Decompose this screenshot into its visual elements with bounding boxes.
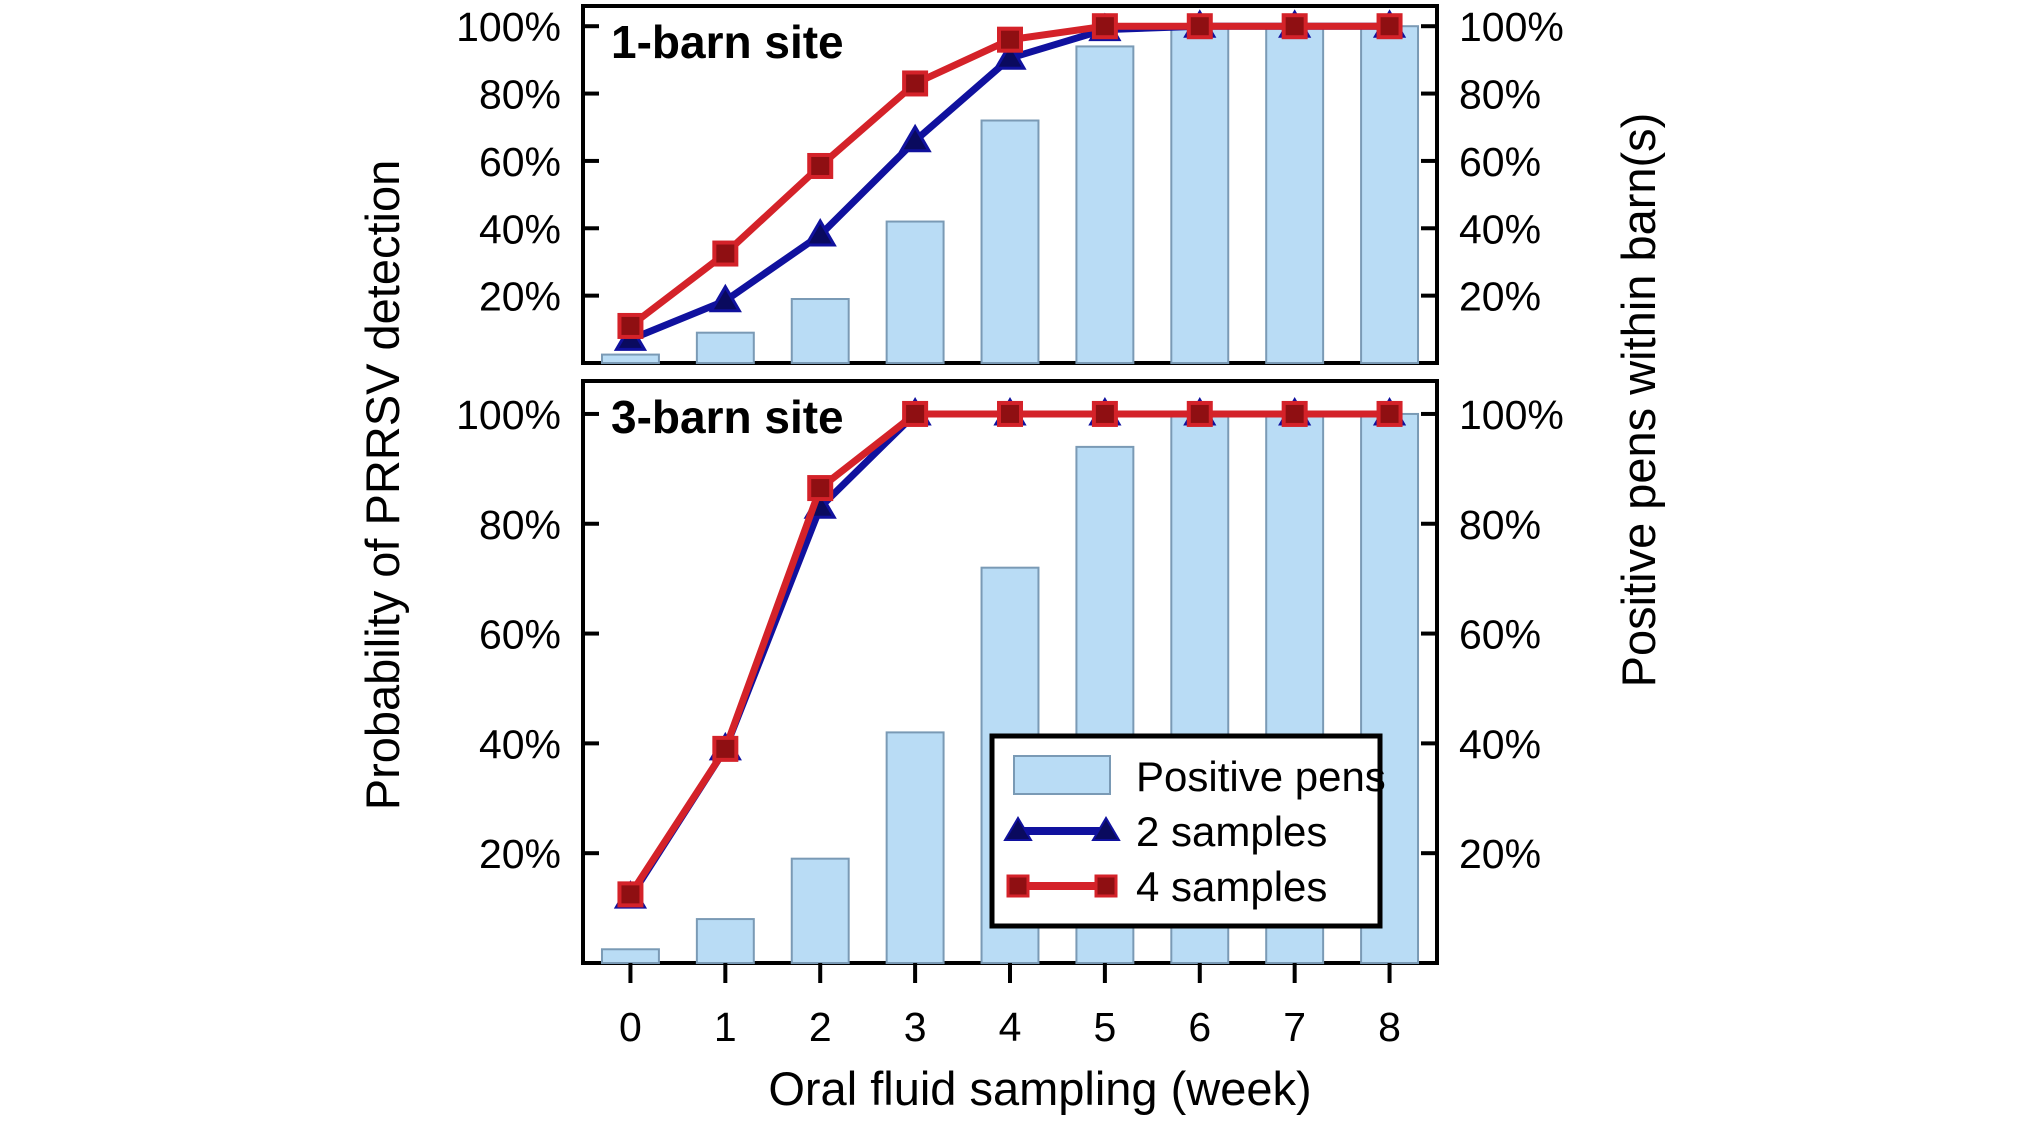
panel-title-1: 1-barn site [611, 16, 844, 68]
ytick-label-left-40: 40% [479, 206, 561, 252]
marker-square-week-4 [999, 403, 1021, 425]
ytick-label-right-60: 60% [1459, 612, 1541, 658]
ytick-label-left-20: 20% [479, 831, 561, 877]
marker-square-week-7 [1284, 403, 1306, 425]
ytick-label-left-20: 20% [479, 274, 561, 320]
bar-week-2 [792, 299, 849, 363]
marker-square-week-1 [714, 243, 736, 265]
marker-square-week-0 [619, 315, 641, 337]
legend-label-4-samples: 4 samples [1136, 863, 1327, 910]
marker-square-week-2 [809, 155, 831, 177]
bar-week-4 [982, 121, 1039, 363]
legend-label-2-samples: 2 samples [1136, 808, 1327, 855]
panel-title-2: 3-barn site [611, 391, 844, 443]
marker-square-week-7 [1284, 15, 1306, 37]
y-axis-title-right: Positive pens within barn(s) [1612, 113, 1665, 688]
ytick-label-left-60: 60% [479, 139, 561, 185]
bar-week-6 [1171, 26, 1228, 363]
marker-square-week-2 [809, 477, 831, 499]
bar-week-8 [1361, 26, 1418, 363]
marker-square-week-8 [1379, 403, 1401, 425]
bar-week-3 [887, 222, 944, 363]
bar-week-5 [1076, 46, 1133, 363]
ytick-label-right-20: 20% [1459, 831, 1541, 877]
xtick-label-6: 6 [1188, 1004, 1211, 1050]
xtick-label-1: 1 [714, 1004, 737, 1050]
bar-week-1 [697, 333, 754, 363]
marker-square-week-1 [714, 738, 736, 760]
legend-marker-square-1 [1096, 876, 1116, 896]
marker-square-week-8 [1379, 15, 1401, 37]
xtick-label-4: 4 [999, 1004, 1022, 1050]
ytick-label-left-100: 100% [456, 392, 561, 438]
legend: Positive pens2 samples4 samples [992, 736, 1386, 926]
xtick-label-2: 2 [809, 1004, 832, 1050]
ytick-label-left-40: 40% [479, 721, 561, 767]
ytick-label-right-80: 80% [1459, 502, 1541, 548]
ytick-label-right-40: 40% [1459, 206, 1541, 252]
xtick-label-3: 3 [904, 1004, 927, 1050]
bar-week-3 [887, 732, 944, 963]
marker-square-week-4 [999, 29, 1021, 51]
xtick-label-8: 8 [1378, 1004, 1401, 1050]
legend-label-positive-pens: Positive pens [1136, 753, 1386, 800]
marker-square-week-3 [904, 403, 926, 425]
marker-square-week-6 [1189, 403, 1211, 425]
bar-week-0 [602, 949, 659, 963]
xtick-label-5: 5 [1093, 1004, 1116, 1050]
ytick-label-right-60: 60% [1459, 139, 1541, 185]
xtick-label-0: 0 [619, 1004, 642, 1050]
ytick-label-left-80: 80% [479, 72, 561, 118]
ytick-label-right-20: 20% [1459, 274, 1541, 320]
x-axis-title: Oral fluid sampling (week) [768, 1062, 1311, 1115]
marker-square-week-0 [619, 883, 641, 905]
bar-week-7 [1266, 26, 1323, 363]
ytick-label-right-40: 40% [1459, 721, 1541, 767]
ytick-label-left-100: 100% [456, 4, 561, 50]
ytick-label-left-60: 60% [479, 612, 561, 658]
bar-week-1 [697, 919, 754, 963]
marker-square-week-5 [1094, 403, 1116, 425]
xtick-label-7: 7 [1283, 1004, 1306, 1050]
legend-marker-square-0 [1008, 876, 1028, 896]
ytick-label-left-80: 80% [479, 502, 561, 548]
y-axis-title-left: Probability of PRRSV detection [356, 160, 409, 811]
bar-week-2 [792, 859, 849, 963]
ytick-label-right-80: 80% [1459, 72, 1541, 118]
marker-square-week-6 [1189, 15, 1211, 37]
marker-square-week-3 [904, 72, 926, 94]
bar-week-0 [602, 355, 659, 363]
chart-canvas: 20%20%40%40%60%60%80%80%100%100%1-barn s… [0, 0, 2025, 1140]
legend-swatch-positive-pens [1014, 756, 1110, 794]
chart-figure: 20%20%40%40%60%60%80%80%100%100%1-barn s… [0, 0, 2025, 1140]
marker-square-week-5 [1094, 15, 1116, 37]
ytick-label-right-100: 100% [1459, 4, 1564, 50]
ytick-label-right-100: 100% [1459, 392, 1564, 438]
